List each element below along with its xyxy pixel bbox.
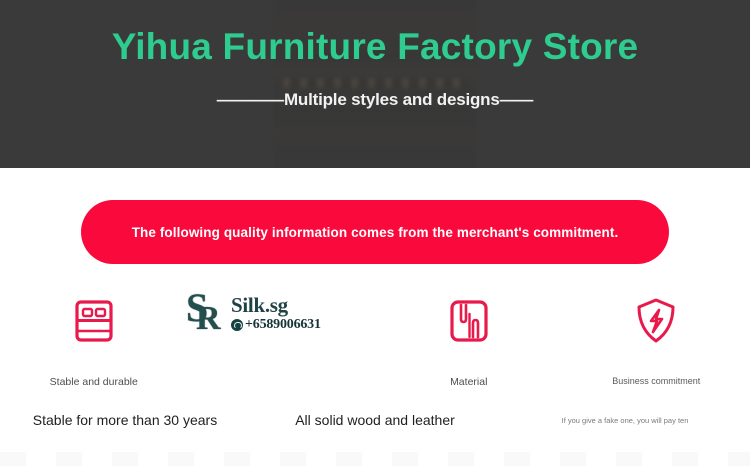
claim-durability-text: Stable for more than 30 years (33, 412, 217, 428)
feature-icon-row: Stable and durable Material (0, 292, 750, 388)
feature-stable-and-durable: Stable and durable (0, 292, 188, 388)
claim-material-text: All solid wood and leather (295, 412, 455, 428)
feature-label-stable-and-durable: Stable and durable (50, 376, 138, 388)
claim-material: All solid wood and leather (250, 412, 500, 428)
watermark-phone-number: +6589006631 (245, 318, 321, 332)
shield-bolt-icon (634, 292, 678, 350)
merchant-commitment-text: The following quality information comes … (132, 225, 619, 240)
monogram-letter-r: R (196, 302, 221, 336)
feature-label-business-commitment: Business commitment (612, 376, 700, 386)
hero-banner: Yihua Furniture Factory Store ————Multip… (0, 0, 750, 168)
watermark-brand-name: Silk.sg (231, 295, 321, 316)
feature-label-material: Material (450, 376, 487, 388)
feature-business-commitment: Business commitment (563, 292, 750, 388)
claim-durability: Stable for more than 30 years (0, 412, 250, 428)
store-subtitle: ————Multiple styles and designs—— (217, 90, 533, 110)
claim-row: Stable for more than 30 years All solid … (0, 412, 750, 428)
store-title: Yihua Furniture Factory Store (112, 26, 639, 68)
product-detail-page: Yihua Furniture Factory Store ————Multip… (0, 0, 750, 474)
silk-sg-watermark: S R Silk.sg +6589006631 (186, 288, 312, 338)
claim-guarantee: If you give a fake one, you will pay ten (500, 412, 750, 428)
cutoff-content-row (0, 452, 750, 466)
feature-material: Material (375, 292, 563, 388)
wood-material-icon (448, 292, 490, 350)
sr-monogram-icon: S R (186, 290, 230, 336)
bed-icon (74, 292, 114, 350)
claim-guarantee-text: If you give a fake one, you will pay ten (562, 416, 689, 425)
whatsapp-icon (231, 319, 243, 331)
merchant-commitment-banner: The following quality information comes … (81, 200, 669, 264)
